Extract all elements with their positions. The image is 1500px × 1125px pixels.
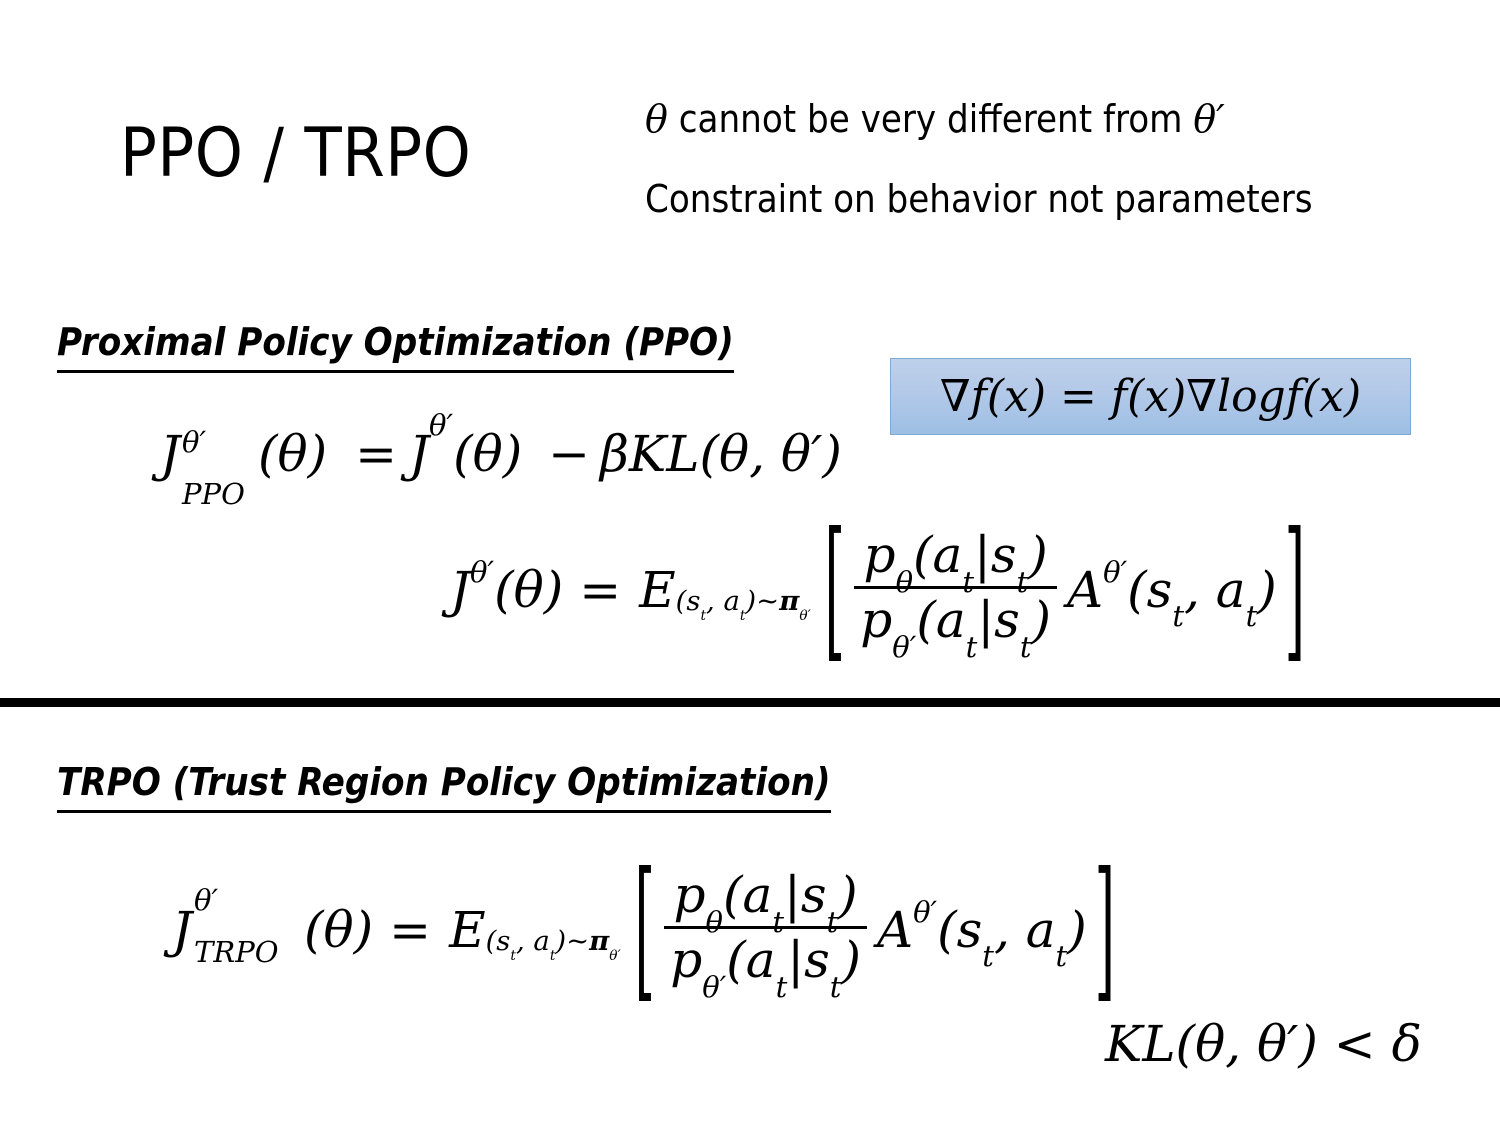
importance-ratio-fraction: pθ(at|st) pθ′(at|st) <box>854 526 1057 649</box>
pi-subscript-theta-prime: θ′ <box>799 608 810 624</box>
a-subscript-t: t <box>1056 939 1068 973</box>
theta-prime-symbol: θ′ <box>1193 97 1225 141</box>
expectation-sub-close: )~ <box>745 585 779 617</box>
s-subscript-t: t <box>826 905 838 939</box>
note-line-constraint: Constraint on behavior not parameters <box>645 180 1465 218</box>
a-subscript-t: t <box>776 970 788 1004</box>
j-superscript-theta-prime: θ′ <box>182 425 206 459</box>
page-title: PPO / TRPO <box>120 120 471 188</box>
advantage-argument: (st, at) <box>1127 561 1277 619</box>
a-subscript-t: t <box>772 905 784 939</box>
expectation-sub-mid: , a <box>706 585 740 617</box>
expectation-subscript: (st, at)~πθ′ <box>486 925 621 957</box>
highlight-box-gradient-identity: ∇f(x) = f(x)∇logf(x) <box>890 358 1411 435</box>
advantage-symbol: A <box>877 901 913 959</box>
pi-symbol: π <box>779 585 799 617</box>
j-rhs-superscript: θ′ <box>429 408 453 442</box>
s-subscript-t: t <box>1020 630 1032 664</box>
expectation-sub-open: (s <box>486 925 511 957</box>
advantage-argument: (st, at) <box>937 901 1087 959</box>
pi-symbol: π <box>589 925 609 957</box>
s-subscript-t: t <box>830 970 842 1004</box>
notes-block: θ cannot be very different from θ′ Const… <box>645 100 1465 218</box>
equals-sign: = <box>389 901 431 959</box>
expectation-sub-open: (s <box>676 585 701 617</box>
equation-kl-constraint: KL(θ, θ′) < δ <box>1105 1015 1422 1073</box>
j-argument: (θ) <box>494 561 563 619</box>
pi-subscript-theta-prime: θ′ <box>609 948 620 964</box>
j-rhs-argument: (θ) <box>453 425 522 483</box>
bracket-close: ] <box>1094 840 1114 1017</box>
note-line-1-text: cannot be very different from <box>668 97 1193 141</box>
expectation-symbol: E <box>639 561 676 619</box>
expectation-sub-mid: , a <box>516 925 550 957</box>
j-rhs-symbol: J <box>409 425 429 483</box>
j-symbol: J <box>172 901 192 959</box>
expectation-subscript: (st, at)~πθ′ <box>676 585 811 617</box>
section-heading-trpo: TRPO (Trust Region Policy Optimization) <box>57 762 831 813</box>
j-subscript-trpo: TRPO <box>194 935 278 969</box>
fraction-numerator: pθ(at|st) <box>664 866 867 929</box>
kl-penalty-term: βKL(θ, θ′) <box>600 425 842 483</box>
advantage-symbol: A <box>1067 561 1103 619</box>
p-subscript-theta: θ <box>896 565 913 599</box>
j-symbol: J <box>450 561 470 619</box>
bracket-close: ] <box>1284 500 1304 677</box>
bracket-open: [ <box>824 500 844 677</box>
s-subscript-t: t <box>1172 599 1184 633</box>
j-symbol: J <box>160 425 180 483</box>
a-subscript-t: t <box>966 630 978 664</box>
minus-sign: − <box>548 425 590 483</box>
p-subscript-theta-prime: θ′ <box>892 630 916 664</box>
p-subscript-theta: θ <box>706 905 723 939</box>
expectation-sub-t2: t <box>550 948 556 964</box>
equals-sign: = <box>355 425 397 483</box>
j-subscript-ppo: PPO <box>182 477 245 511</box>
fraction-numerator: pθ(at|st) <box>854 526 1057 589</box>
section-heading-ppo: Proximal Policy Optimization (PPO) <box>57 322 734 373</box>
expectation-sub-close: )~ <box>555 925 589 957</box>
note-line-theta-difference: θ cannot be very different from θ′ <box>645 100 1465 138</box>
equation-gradient-identity: ∇f(x) = f(x)∇logf(x) <box>940 371 1361 422</box>
j-argument: (θ) <box>258 425 327 483</box>
expectation-symbol: E <box>449 901 486 959</box>
expectation-sub-t1: t <box>510 948 516 964</box>
theta-symbol: θ <box>645 97 668 141</box>
slide-canvas: PPO / TRPO θ cannot be very different fr… <box>0 0 1500 1125</box>
expectation-sub-t1: t <box>700 608 706 624</box>
section-divider <box>0 698 1500 707</box>
equation-ppo-expectation: Jθ′(θ) = E(st, at)~πθ′ [ pθ(at|st) pθ′(a… <box>450 528 1304 651</box>
equation-ppo-objective: Jθ′PPO(θ) =Jθ′(θ) −βKL(θ, θ′) <box>160 425 842 483</box>
s-subscript-t: t <box>982 939 994 973</box>
expectation-sub-t2: t <box>740 608 746 624</box>
j-superscript-theta-prime: θ′ <box>194 883 218 917</box>
importance-ratio-fraction: pθ(at|st) pθ′(at|st) <box>664 866 867 989</box>
s-subscript-t: t <box>1017 565 1029 599</box>
equals-sign: = <box>579 561 621 619</box>
a-subscript-t: t <box>1246 599 1258 633</box>
bracket-open: [ <box>634 840 654 1017</box>
j-argument: (θ) <box>304 901 373 959</box>
a-subscript-t: t <box>962 565 974 599</box>
equation-trpo-objective: Jθ′TRPO(θ) = E(st, at)~πθ′ [ pθ(at|st) p… <box>172 868 1114 991</box>
p-subscript-theta-prime: θ′ <box>702 970 726 1004</box>
